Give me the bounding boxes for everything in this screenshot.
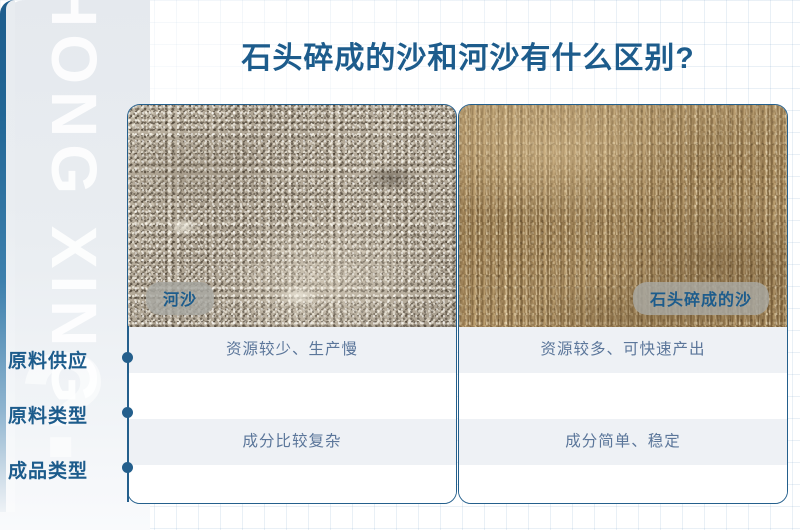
photo-manufactured-sand: 石头碎成的沙 [459, 105, 787, 327]
card-manufactured-sand: 石头碎成的沙 资源较多、可快速产出 成分简单、稳定 细度模数多、适应不同需求 [458, 104, 788, 504]
photo-river-sand: 河沙 [128, 105, 456, 327]
row-label-raw-material-supply: 原料供应 [8, 346, 120, 373]
infographic-canvas: HONG XING ? 石头碎成的沙和河沙有什么区别? 河沙 资源较少、生产慢 … [0, 0, 800, 530]
timeline-dot-raw-material-type [122, 407, 133, 418]
card-river-sand: 河沙 资源较少、生产慢 成分比较复杂 细度模数比较单一 [127, 104, 457, 504]
row-spacer-right-1 [459, 465, 787, 504]
row-label-product-type: 成品类型 [8, 456, 120, 483]
photo-label-manufactured-sand: 石头碎成的沙 [633, 282, 769, 315]
row-raw-material-type-left: 成分比较复杂 [128, 419, 456, 465]
row-label-raw-material-type: 原料类型 [8, 401, 120, 428]
photo-label-river-sand: 河沙 [146, 282, 214, 315]
row-raw-material-supply-right: 资源较多、可快速产出 [459, 327, 787, 373]
row-spacer-right-0 [459, 373, 787, 419]
row-raw-material-type-right: 成分简单、稳定 [459, 419, 787, 465]
row-raw-material-supply-left: 资源较少、生产慢 [128, 327, 456, 373]
timeline-dot-product-type [122, 462, 133, 473]
rows-manufactured-sand: 资源较多、可快速产出 成分简单、稳定 细度模数多、适应不同需求 [459, 327, 787, 504]
timeline-dot-raw-material-supply [122, 352, 133, 363]
rows-river-sand: 资源较少、生产慢 成分比较复杂 细度模数比较单一 [128, 327, 456, 504]
brand-accent-bar-inner [6, 0, 15, 512]
row-spacer-left-0 [128, 373, 456, 419]
row-spacer-left-1 [128, 465, 456, 504]
page-title: 石头碎成的沙和河沙有什么区别? [150, 33, 786, 77]
